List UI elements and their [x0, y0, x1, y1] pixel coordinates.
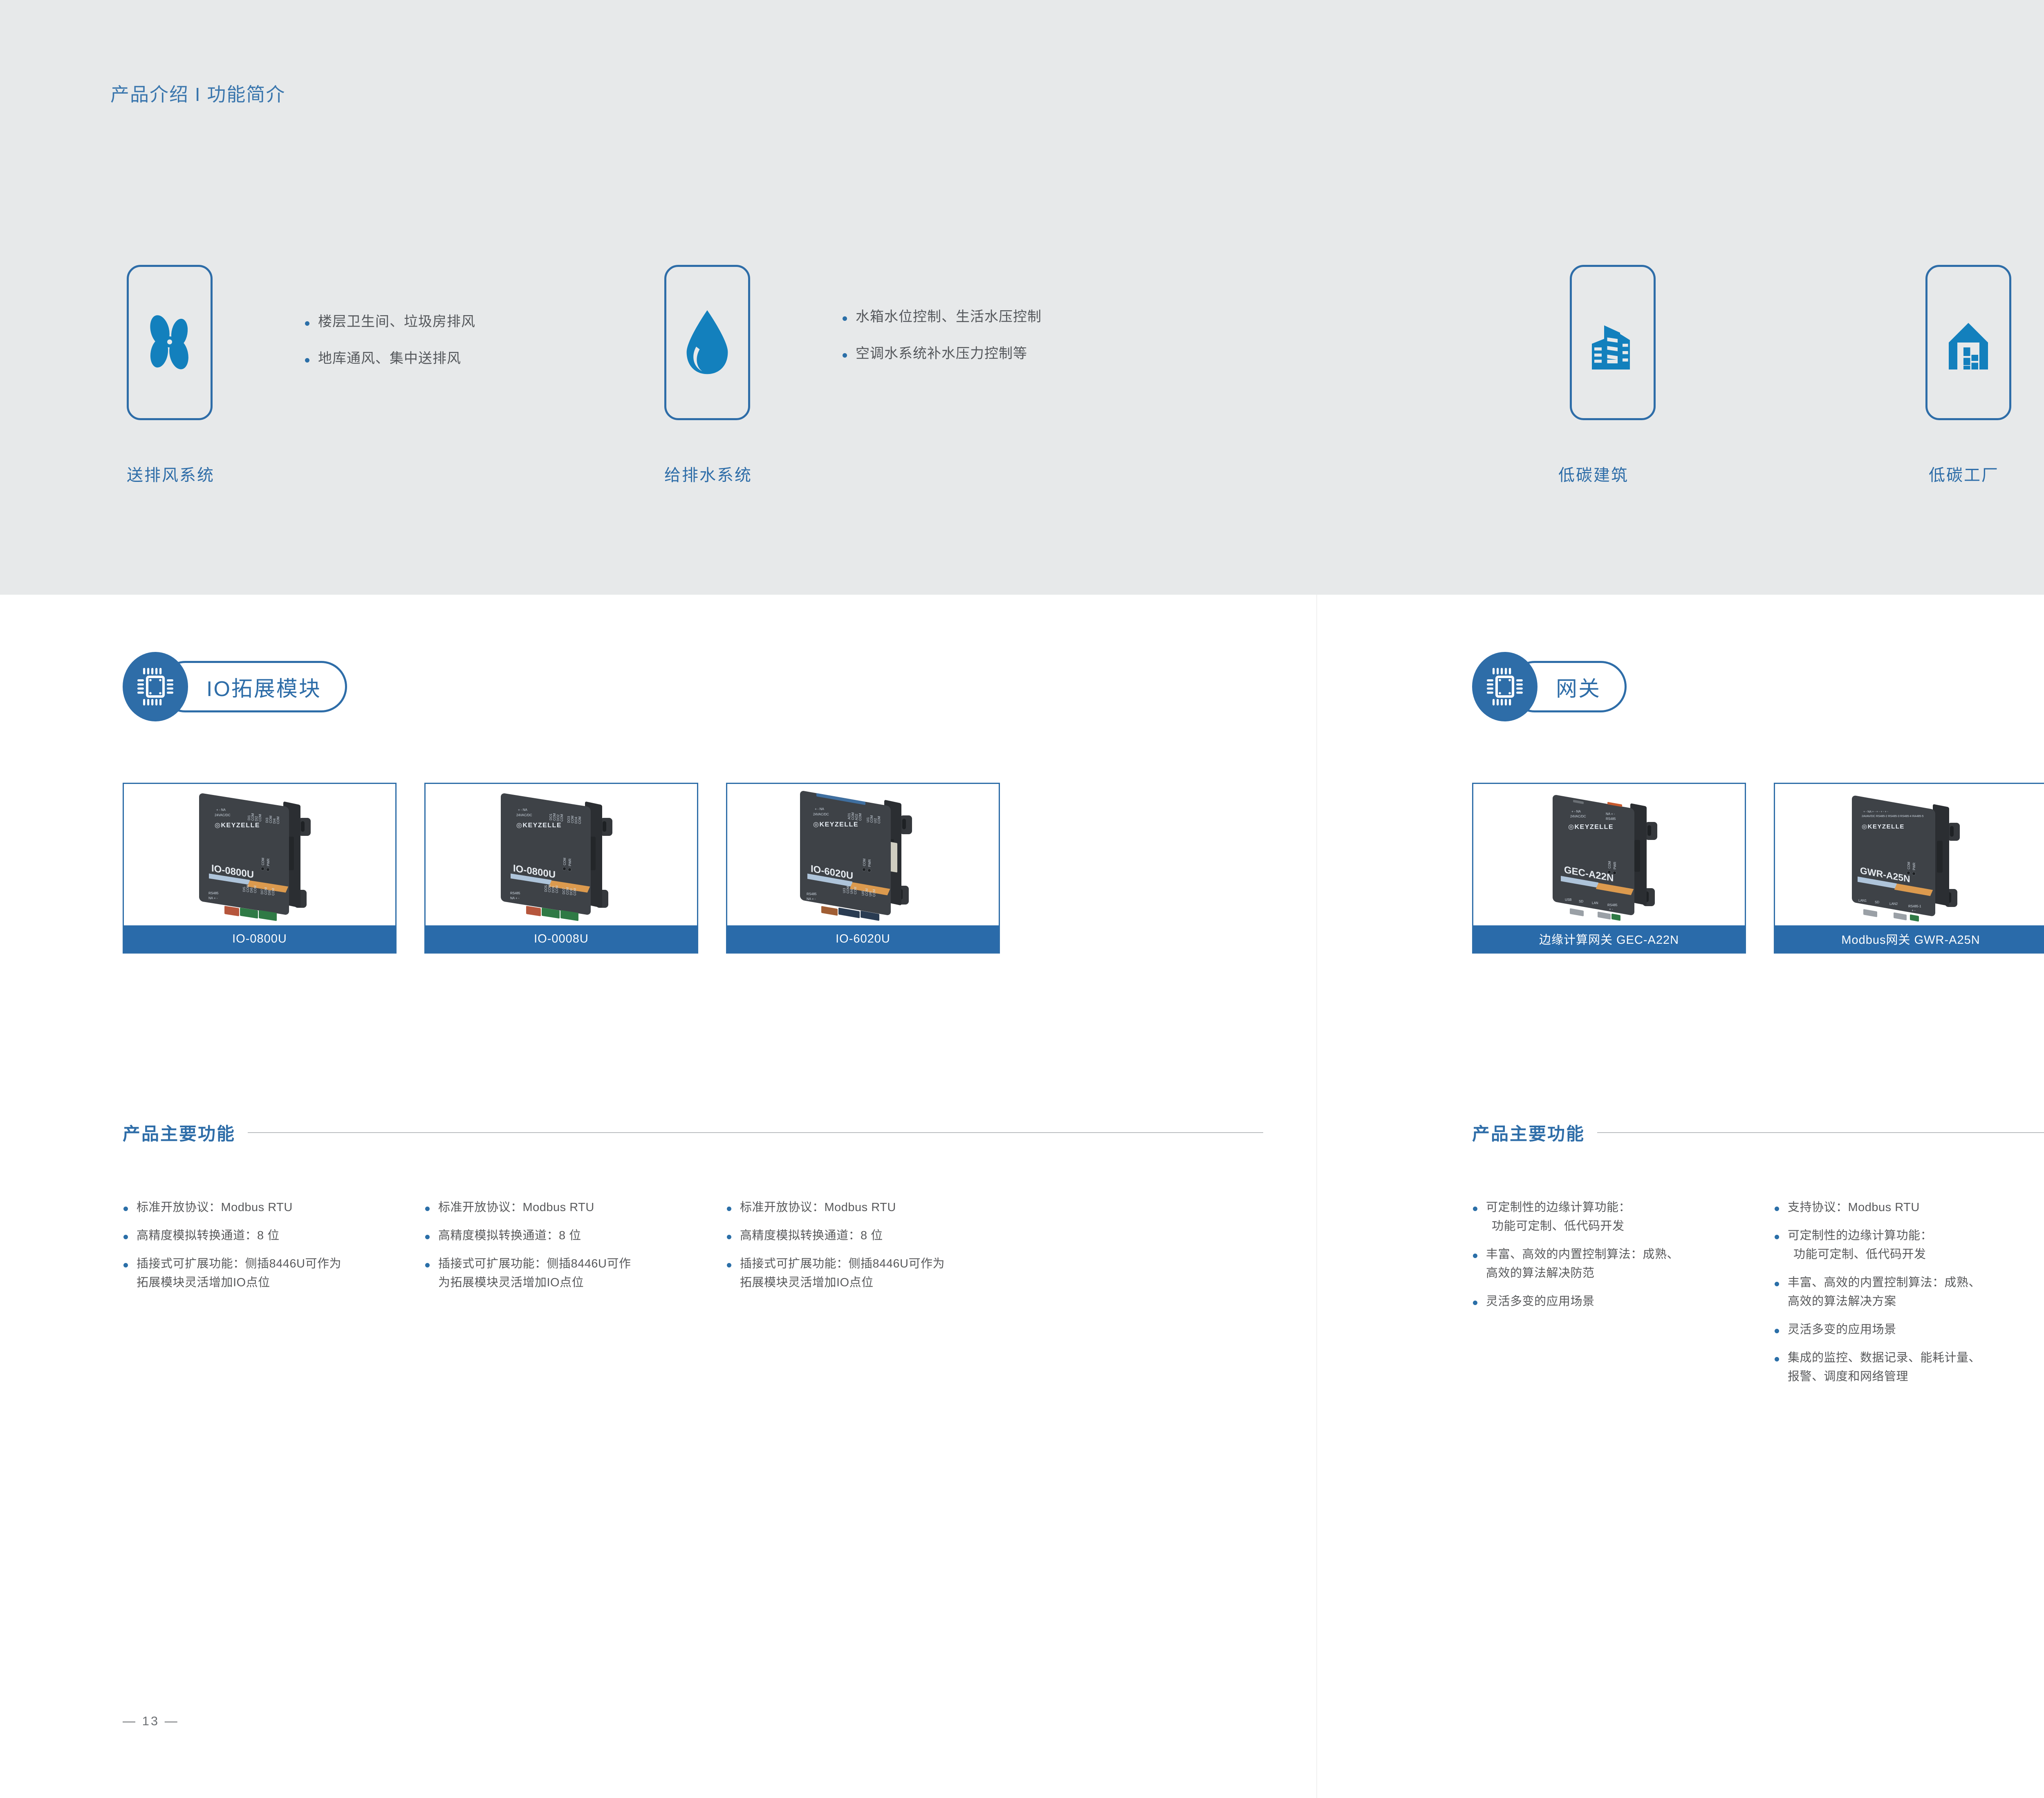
product-caption: Modbus网关 GWR-A25N: [1775, 925, 2044, 952]
features-heading-right: 产品主要功能: [1472, 1120, 2044, 1145]
tile-factory: [1925, 265, 2011, 420]
section-title-io: IO拓展模块: [161, 672, 345, 702]
water-drop-icon: [681, 308, 733, 377]
tile-label-water: 给排水系统: [664, 462, 752, 486]
list-item: 丰富、高效的内置控制算法：成熟、 高效的算法解决方案: [1774, 1277, 2044, 1308]
tile-building: [1570, 265, 1656, 420]
list-item: 集成的监控、数据记录、能耗计量、 报警、调度和网络管理: [1774, 1352, 2044, 1383]
feature-column-3: 标准开放协议：Modbus RTU 高精度模拟转换通道：8 位 插接式可扩展功能…: [726, 1202, 1086, 1305]
list-item: 标准开放协议：Modbus RTU: [726, 1202, 1086, 1214]
product-photo-io-6020u: + - NA 24VAC/DC ◎KEYZELLE AO1 COM AO2 CO…: [727, 784, 999, 928]
product-card[interactable]: + - NA 24VAC/DC ◎KEYZELLE AO1 COM AO2 CO…: [726, 783, 1000, 954]
bullet-list-fan: 楼层卫生间、垃圾房排风 地库通风、集中送排风: [303, 315, 475, 388]
page-left: IO拓展模块 + - NA 24VAC/DC ◎KEYZELLE DI1 COM…: [0, 595, 1316, 1798]
factory-icon: [1938, 312, 1999, 373]
tile-label-building: 低碳建筑: [1558, 462, 1629, 486]
product-photo-gwr-a25n: + - NA + - + - + - + - 2AVAV/DC RS485-2 …: [1775, 784, 2044, 928]
features-title: 产品主要功能: [123, 1120, 235, 1145]
features-heading-left: 产品主要功能: [123, 1120, 1263, 1145]
tile-water: [664, 265, 750, 420]
office-building-icon: [1582, 312, 1643, 373]
list-item: 支持协议：Modbus RTU: [1774, 1202, 2044, 1214]
product-caption: IO-0008U: [426, 925, 697, 952]
product-card[interactable]: + - NA 24VAC/DC NA + - RS485 ◎KEYZELLE G…: [1472, 783, 1746, 954]
list-item: 空调水系统补水压力控制等: [840, 347, 1042, 360]
list-item: 高精度模拟转换通道：8 位: [726, 1230, 1086, 1242]
chip-icon: [123, 652, 188, 721]
product-photo-io-0800u: + - NA 24VAC/DC ◎KEYZELLE DI1 COM DI2 CO…: [124, 784, 395, 928]
list-item: 楼层卫生间、垃圾房排风: [303, 315, 475, 329]
list-item: 可定制性的边缘计算功能： 功能可定制、低代码开发: [1774, 1230, 2044, 1261]
page-right: 网关 + - NA 24VAC/DC NA + - RS485 ◎KEYZELL…: [1317, 595, 2044, 1798]
page-number-left: — 13 —: [123, 1714, 179, 1729]
section-header-gateway: 网关: [1472, 652, 1734, 721]
product-card[interactable]: + - NA 24VAC/DC ◎KEYZELLE DO1 COM DO2 CO…: [424, 783, 698, 954]
tile-fan: [127, 265, 213, 420]
product-caption: IO-0800U: [124, 925, 395, 952]
list-item: 灵活多变的应用场景: [1774, 1324, 2044, 1336]
tile-label-fan: 送排风系统: [127, 462, 215, 486]
list-item: 地库通风、集中送排风: [303, 352, 475, 365]
top-banner: [0, 0, 2044, 595]
product-caption: 边缘计算网关 GEC-A22N: [1473, 925, 1745, 952]
features-title: 产品主要功能: [1472, 1120, 1585, 1145]
feature-column-2: 支持协议：Modbus RTU 可定制性的边缘计算功能： 功能可定制、低代码开发…: [1774, 1202, 2044, 1399]
chip-icon: [1472, 652, 1537, 721]
list-item: 插接式可扩展功能：侧插8446U可作为 拓展模块灵活增加IO点位: [726, 1258, 1086, 1289]
list-item: 水箱水位控制、生活水压控制: [840, 310, 1042, 324]
product-photo-gec-a22n: + - NA 24VAC/DC NA + - RS485 ◎KEYZELLE G…: [1473, 784, 1745, 928]
divider: [1597, 1132, 2044, 1133]
product-photo-io-0008u: + - NA 24VAC/DC ◎KEYZELLE DO1 COM DO2 CO…: [426, 784, 697, 928]
tile-label-factory: 低碳工厂: [1929, 462, 1999, 486]
fan-icon: [139, 310, 200, 375]
divider: [248, 1132, 1263, 1133]
product-caption: IO-6020U: [727, 925, 999, 952]
bullet-list-water: 水箱水位控制、生活水压控制 空调水系统补水压力控制等: [840, 310, 1042, 383]
page-header-left: 产品介绍 I 功能简介: [110, 80, 285, 107]
section-header-io: IO拓展模块: [123, 652, 433, 721]
product-card[interactable]: + - NA 24VAC/DC ◎KEYZELLE DI1 COM DI2 CO…: [123, 783, 397, 954]
product-card[interactable]: + - NA + - + - + - + - 2AVAV/DC RS485-2 …: [1774, 783, 2044, 954]
